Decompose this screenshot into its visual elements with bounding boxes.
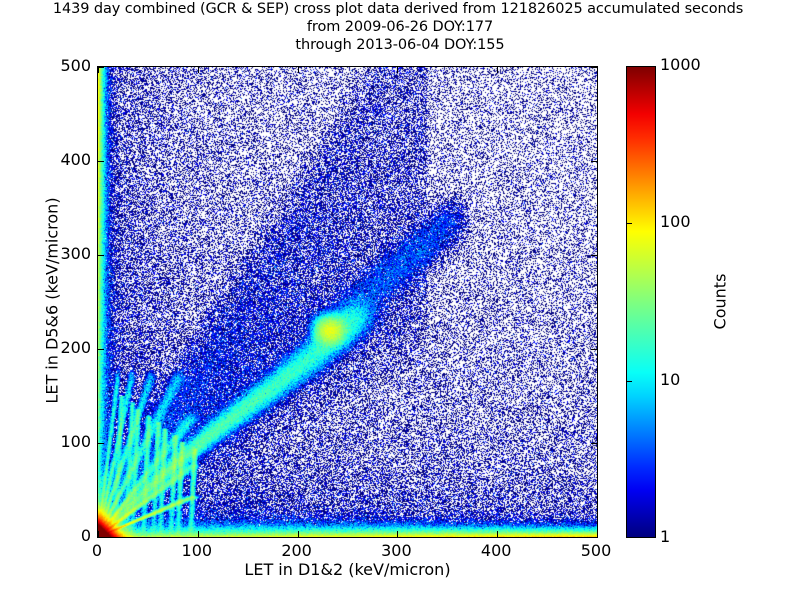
x-tick-label: 400 [456, 541, 536, 560]
colorbar-tick-label: 10 [660, 370, 680, 389]
y-tick-mark-right [591, 443, 597, 444]
title-line-2: from 2009-06-26 DOY:177 [0, 18, 800, 36]
y-tick-mark [98, 537, 104, 538]
colorbar-tick-mark [626, 223, 632, 224]
colorbar-label: Counts [711, 182, 730, 422]
title-line-3: through 2013-06-04 DOY:155 [0, 36, 800, 54]
colorbar-tick-label: 100 [660, 212, 691, 231]
colorbar-tick-label: 1000 [660, 55, 701, 74]
y-tick-mark-right [591, 161, 597, 162]
heatmap-canvas [98, 67, 597, 537]
colorbar [626, 66, 656, 538]
x-tick-mark-top [497, 67, 498, 73]
x-tick-mark-top [298, 67, 299, 73]
x-tick-mark-top [198, 67, 199, 73]
figure-canvas: 1439 day combined (GCR & SEP) cross plot… [0, 0, 800, 600]
y-tick-label: 0 [11, 526, 91, 545]
y-tick-mark [98, 67, 104, 68]
title-line-1: 1439 day combined (GCR & SEP) cross plot… [0, 0, 800, 18]
y-axis-label: LET in D5&6 (keV/micron) [43, 131, 62, 471]
plot-title: 1439 day combined (GCR & SEP) cross plot… [0, 0, 800, 54]
colorbar-tick-label: 1 [660, 527, 670, 546]
x-tick-label: 200 [257, 541, 337, 560]
x-tick-mark [397, 531, 398, 537]
y-tick-label: 500 [11, 56, 91, 75]
x-tick-mark-top [597, 67, 598, 73]
y-tick-mark-right [591, 67, 597, 68]
y-tick-mark-right [591, 537, 597, 538]
x-tick-label: 500 [556, 541, 636, 560]
plot-axes [97, 66, 598, 538]
y-tick-mark [98, 255, 104, 256]
y-tick-mark-right [591, 349, 597, 350]
x-tick-label: 300 [356, 541, 436, 560]
colorbar-gradient [627, 67, 655, 537]
x-axis-label: LET in D1&2 (keV/micron) [97, 560, 598, 579]
y-tick-mark [98, 161, 104, 162]
y-tick-mark [98, 349, 104, 350]
x-tick-mark [198, 531, 199, 537]
y-tick-mark [98, 443, 104, 444]
x-tick-mark [298, 531, 299, 537]
x-tick-mark-top [397, 67, 398, 73]
x-tick-mark [597, 531, 598, 537]
y-tick-mark-right [591, 255, 597, 256]
x-tick-label: 100 [157, 541, 237, 560]
x-tick-mark [497, 531, 498, 537]
colorbar-tick-mark [626, 381, 632, 382]
